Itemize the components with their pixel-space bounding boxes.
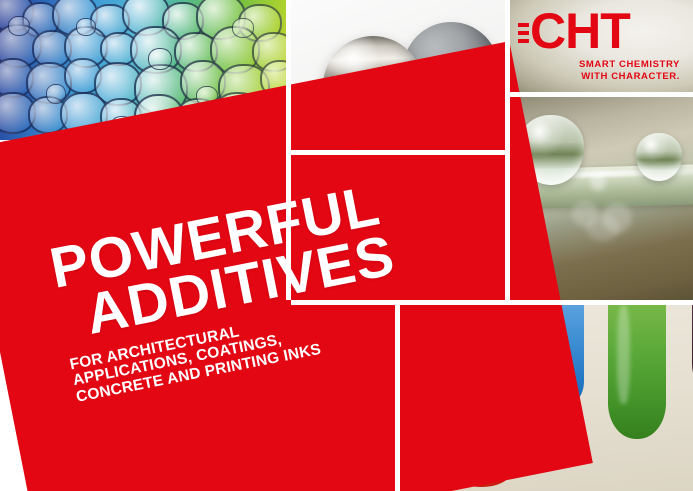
water-droplet xyxy=(636,133,682,181)
grid-gutter-vertical xyxy=(505,0,510,305)
cht-bars-icon xyxy=(518,9,529,56)
cht-tagline: SMART CHEMISTRY WITH CHARACTER. xyxy=(518,59,686,82)
drip-green xyxy=(608,305,666,439)
cht-logo: CHT SMART CHEMISTRY WITH CHARACTER. xyxy=(518,9,686,82)
grid-gutter-vertical xyxy=(395,300,400,491)
cht-letters: CHT xyxy=(530,9,630,53)
grid-gutter-horizontal xyxy=(510,92,693,97)
grid-gutter-horizontal xyxy=(291,300,693,305)
cht-wordmark: CHT xyxy=(518,9,686,55)
cht-tagline-line2: WITH CHARACTER. xyxy=(518,71,680,83)
bokeh-spot xyxy=(590,171,606,191)
brochure-cover: CHT SMART CHEMISTRY WITH CHARACTER. xyxy=(0,0,693,491)
cht-tagline-line1: SMART CHEMISTRY xyxy=(518,59,680,71)
cht-logo-panel: CHT SMART CHEMISTRY WITH CHARACTER. xyxy=(510,0,693,92)
grid-gutter-horizontal xyxy=(291,150,505,155)
bokeh-spot xyxy=(586,215,620,241)
